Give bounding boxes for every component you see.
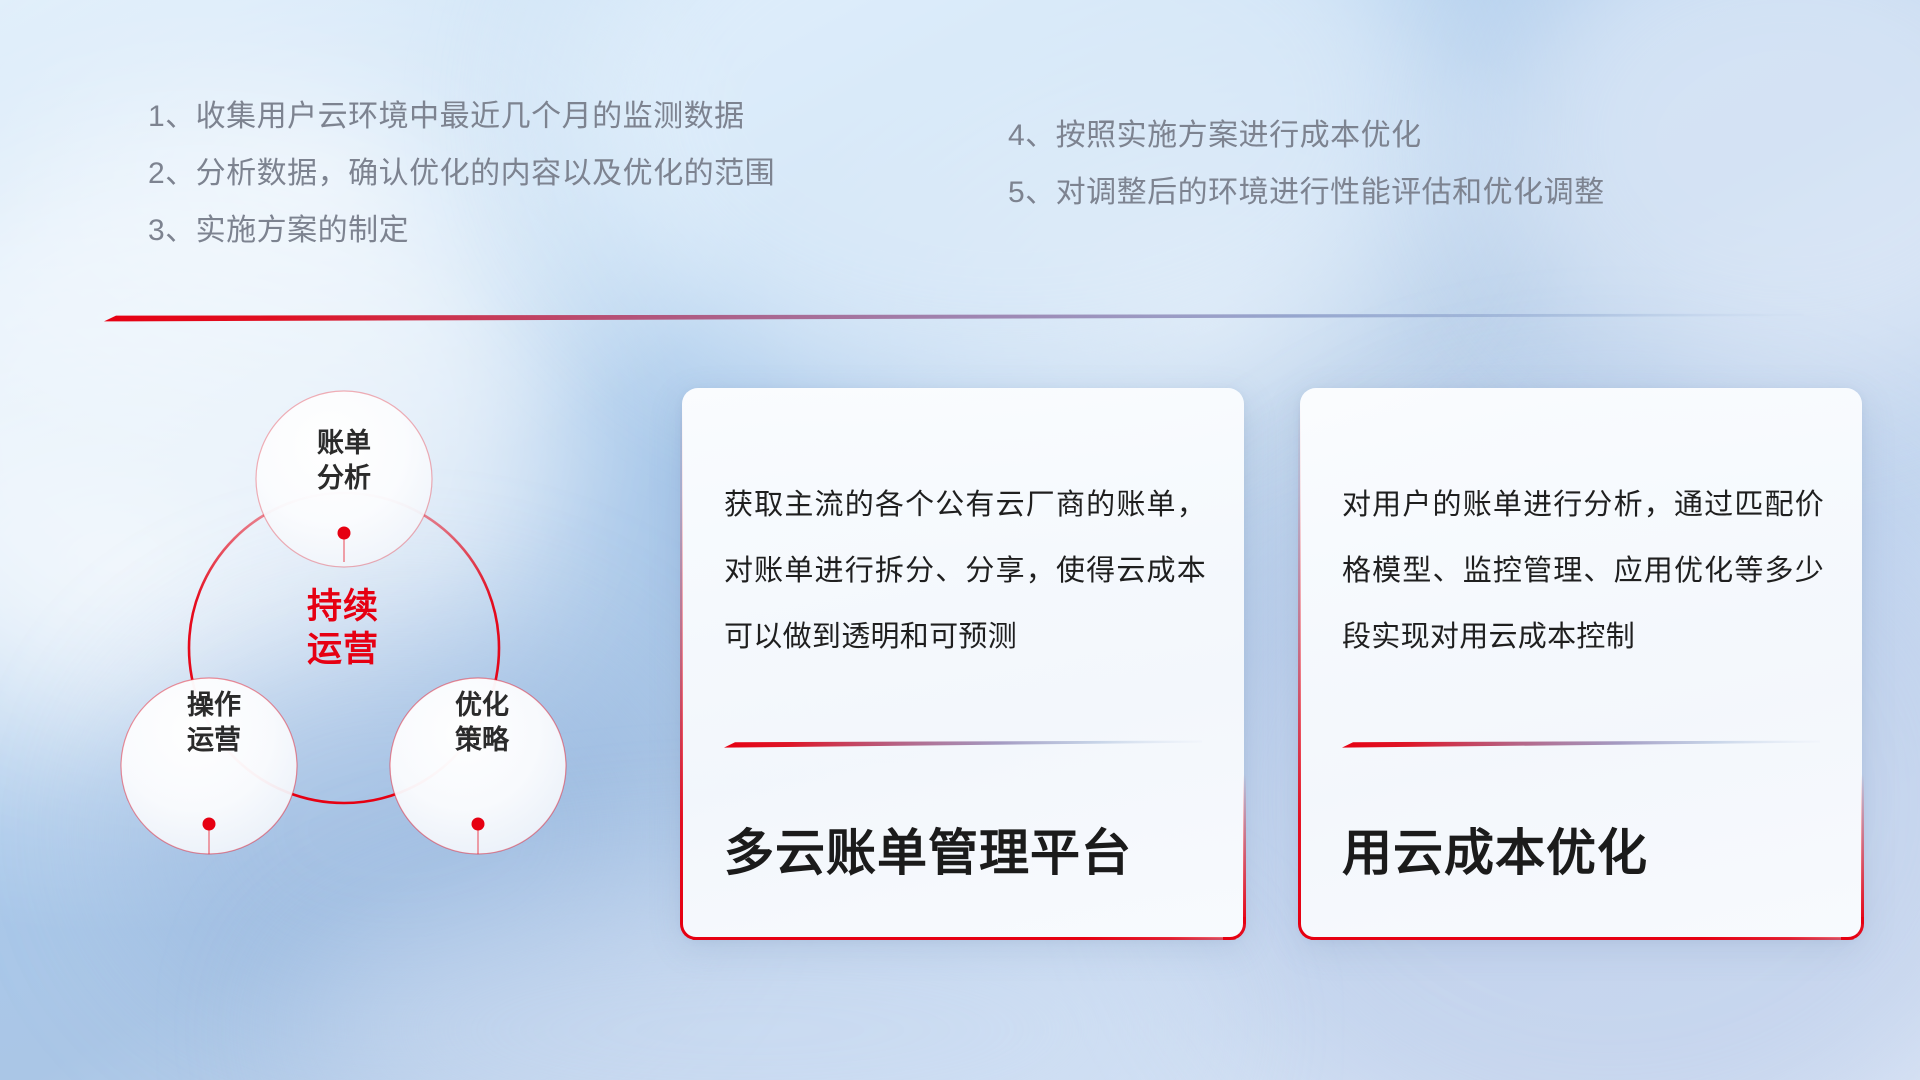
cycle-center-label-line1: 持续 [248, 586, 438, 629]
cycle-center-label: 持续 运营 [248, 586, 438, 671]
info-card-multi-cloud-billing[interactable]: 获取主流的各个公有云厂商的账单，对账单进行拆分、分享，使得云成本可以做到透明和可… [682, 388, 1244, 938]
card-title: 用云成本优化 [1342, 813, 1832, 885]
card-divider-shape [724, 740, 1202, 749]
cycle-node-label-left-line2: 运营 [128, 723, 300, 758]
card-body-text: 对用户的账单进行分析，通过匹配价格模型、监控管理、应用优化等多少段实现对用云成本… [1342, 472, 1824, 670]
card-accent-corner-bottom-left [1298, 917, 1321, 940]
cycle-diagram: 账单 分析 持续 运营 操作 运营 优化 策略 [96, 348, 656, 948]
card-accent-left [1298, 400, 1301, 924]
cycle-node-label-left-line1: 操作 [128, 688, 300, 723]
card-accent-corner-bottom-left [680, 917, 703, 940]
cycle-dot-top [338, 527, 351, 540]
section-divider-shape [104, 313, 1804, 323]
cycle-node-label-right-line2: 策略 [396, 723, 568, 758]
card-accent-corner-bottom-right [1841, 917, 1864, 940]
card-divider [724, 736, 1202, 745]
card-divider-shape [1342, 740, 1820, 749]
cycle-node-label-top: 账单 分析 [254, 426, 434, 495]
slide-canvas: 1、收集用户云环境中最近几个月的监测数据 2、分析数据，确认优化的内容以及优化的… [0, 0, 1920, 1080]
card-divider [1342, 736, 1820, 745]
card-accent-left [680, 400, 683, 924]
card-accent-corner-bottom-right [1223, 917, 1246, 940]
card-accent-right [1861, 774, 1864, 924]
bullet-list-left: 1、收集用户云环境中最近几个月的监测数据 2、分析数据，确认优化的内容以及优化的… [148, 102, 775, 246]
card-accent-right [1243, 774, 1246, 924]
card-accent-bottom [1310, 937, 1854, 940]
cycle-dot-right [472, 818, 485, 831]
section-divider [104, 310, 1804, 320]
bullet-item-1: 1、收集用户云环境中最近几个月的监测数据 [148, 102, 775, 132]
bullet-item-5: 5、对调整后的环境进行性能评估和优化调整 [1008, 178, 1605, 208]
card-body-text: 获取主流的各个公有云厂商的账单，对账单进行拆分、分享，使得云成本可以做到透明和可… [724, 472, 1206, 670]
bullet-item-4: 4、按照实施方案进行成本优化 [1008, 121, 1605, 151]
card-title: 多云账单管理平台 [724, 813, 1214, 885]
cycle-center-label-line2: 运营 [248, 629, 438, 672]
cycle-node-label-left: 操作 运营 [128, 688, 300, 757]
bullet-item-2: 2、分析数据，确认优化的内容以及优化的范围 [148, 159, 775, 189]
bullet-list-right: 4、按照实施方案进行成本优化 5、对调整后的环境进行性能评估和优化调整 [1008, 121, 1605, 208]
info-card-cloud-cost-optimization[interactable]: 对用户的账单进行分析，通过匹配价格模型、监控管理、应用优化等多少段实现对用云成本… [1300, 388, 1862, 938]
bullet-item-3: 3、实施方案的制定 [148, 216, 775, 246]
cycle-node-label-top-line2: 分析 [254, 461, 434, 496]
cycle-node-label-right-line1: 优化 [396, 688, 568, 723]
cycle-dot-left [203, 818, 216, 831]
cycle-node-label-right: 优化 策略 [396, 688, 568, 757]
card-accent-bottom [692, 937, 1236, 940]
cycle-node-label-top-line1: 账单 [254, 426, 434, 461]
